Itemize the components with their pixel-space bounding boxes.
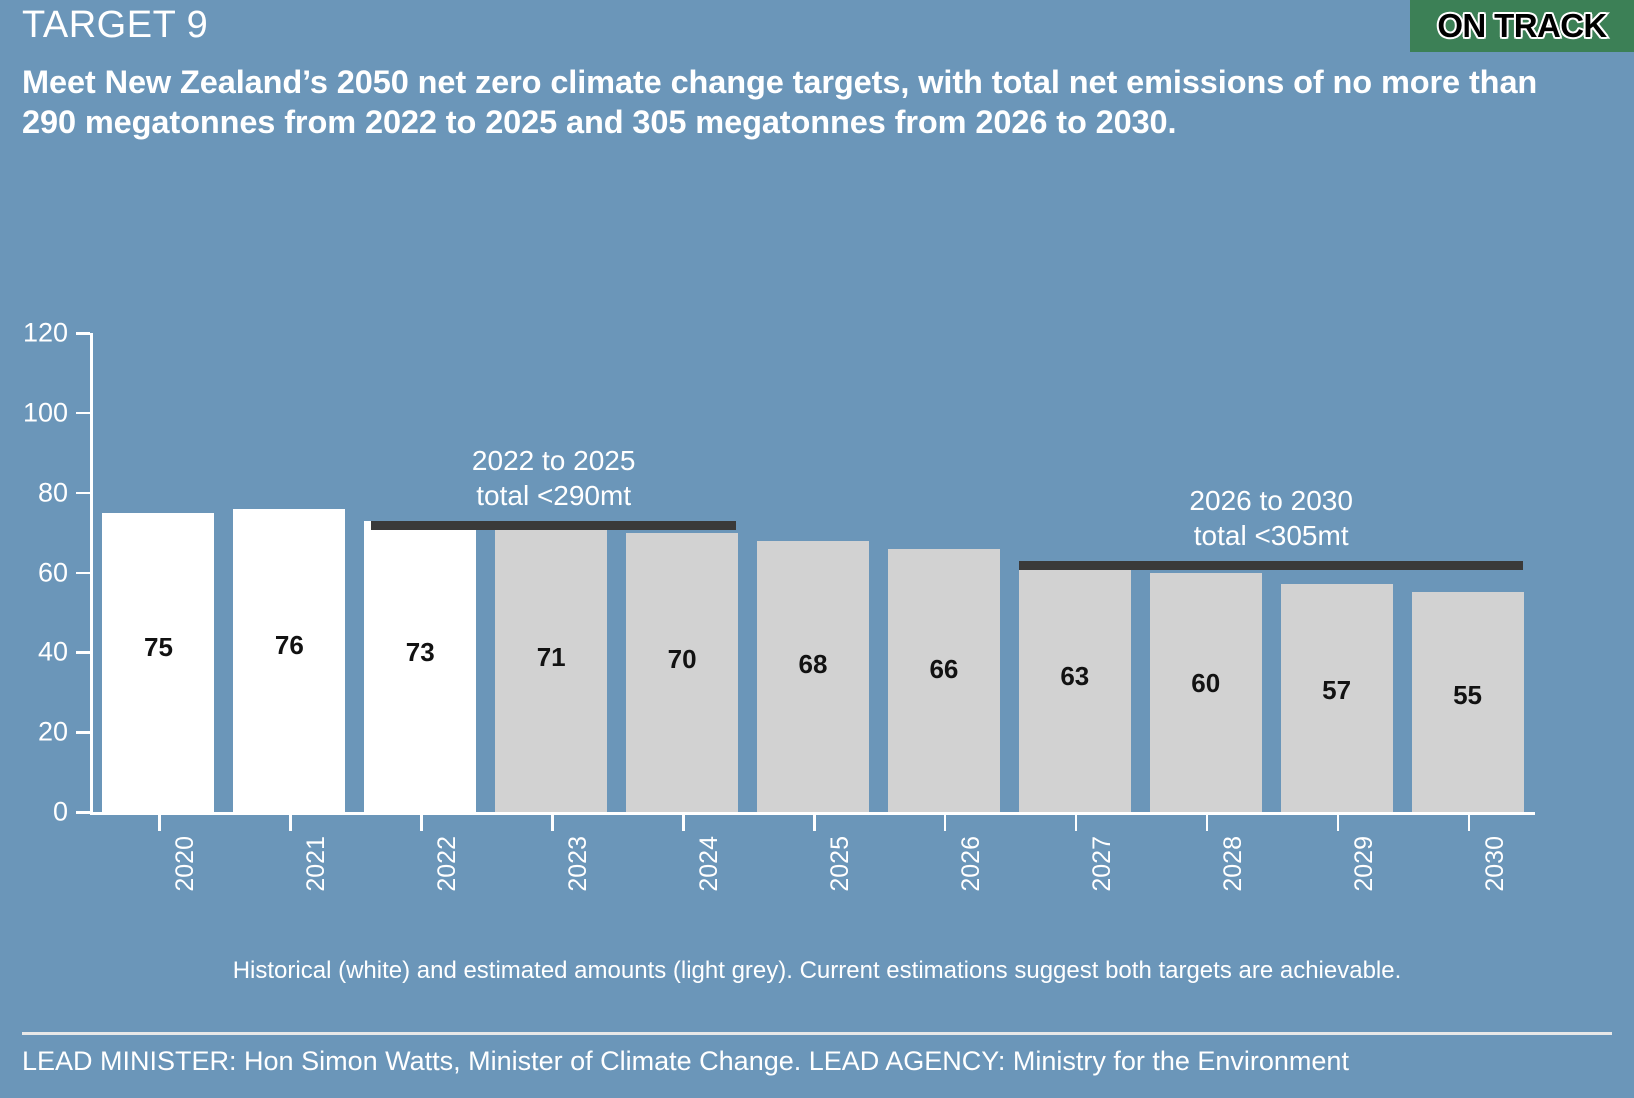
x-axis-tick: [813, 815, 816, 831]
chart-caption: Historical (white) and estimated amounts…: [0, 957, 1634, 985]
x-axis-tick: [420, 815, 423, 831]
x-axis-tick: [682, 815, 685, 831]
target-annotation-period: 2022 to 2025: [404, 443, 704, 478]
x-axis-label: 2023: [564, 836, 593, 892]
x-axis-label: 2027: [1088, 836, 1117, 892]
bar-value-label: 76: [233, 630, 345, 661]
footer-divider: [22, 1032, 1612, 1035]
x-axis-tick: [944, 815, 947, 831]
x-axis-label: 2020: [171, 836, 200, 892]
x-axis-label: 2026: [957, 836, 986, 892]
target-annotation-period: 2026 to 2030: [1121, 483, 1421, 518]
bar-value-label: 68: [757, 649, 869, 680]
x-axis-tick: [158, 815, 161, 831]
bar-value-label: 73: [364, 637, 476, 668]
target-annotation: 2022 to 2025total <290mt: [404, 443, 704, 513]
x-axis-label: 2029: [1350, 836, 1379, 892]
bar-value-label: 71: [495, 642, 607, 673]
bar-value-label: 57: [1281, 675, 1393, 706]
x-axis-label: 2028: [1219, 836, 1248, 892]
x-axis-label: 2022: [433, 836, 462, 892]
x-axis-tick: [1337, 815, 1340, 831]
bar-value-label: 75: [102, 632, 214, 663]
target-threshold-line: [371, 521, 736, 530]
bar-value-label: 55: [1412, 680, 1524, 711]
x-axis-label: 2021: [302, 836, 331, 892]
target-annotation: 2026 to 2030total <305mt: [1121, 483, 1421, 553]
footer-credits: LEAD MINISTER: Hon Simon Watts, Minister…: [22, 1046, 1349, 1077]
bar-value-label: 70: [626, 644, 738, 675]
x-axis-tick: [1075, 815, 1078, 831]
x-axis-label: 2024: [695, 836, 724, 892]
target-annotation-total: total <305mt: [1121, 518, 1421, 553]
target-annotation-total: total <290mt: [404, 478, 704, 513]
x-axis-tick: [1468, 815, 1471, 831]
x-axis-label: 2030: [1481, 836, 1510, 892]
x-axis-tick: [551, 815, 554, 831]
bar-value-label: 60: [1150, 668, 1262, 699]
bar-value-label: 66: [888, 654, 1000, 685]
x-axis-tick: [289, 815, 292, 831]
target-threshold-line: [1019, 561, 1524, 570]
target-card: TARGET 9 Meet New Zealand’s 2050 net zer…: [0, 0, 1634, 1098]
x-axis-tick: [1206, 815, 1209, 831]
emissions-bar-chart: 020406080100120 7576737170686663605755 2…: [0, 0, 1634, 1098]
bar-value-label: 63: [1019, 661, 1131, 692]
x-axis-label: 2025: [826, 836, 855, 892]
